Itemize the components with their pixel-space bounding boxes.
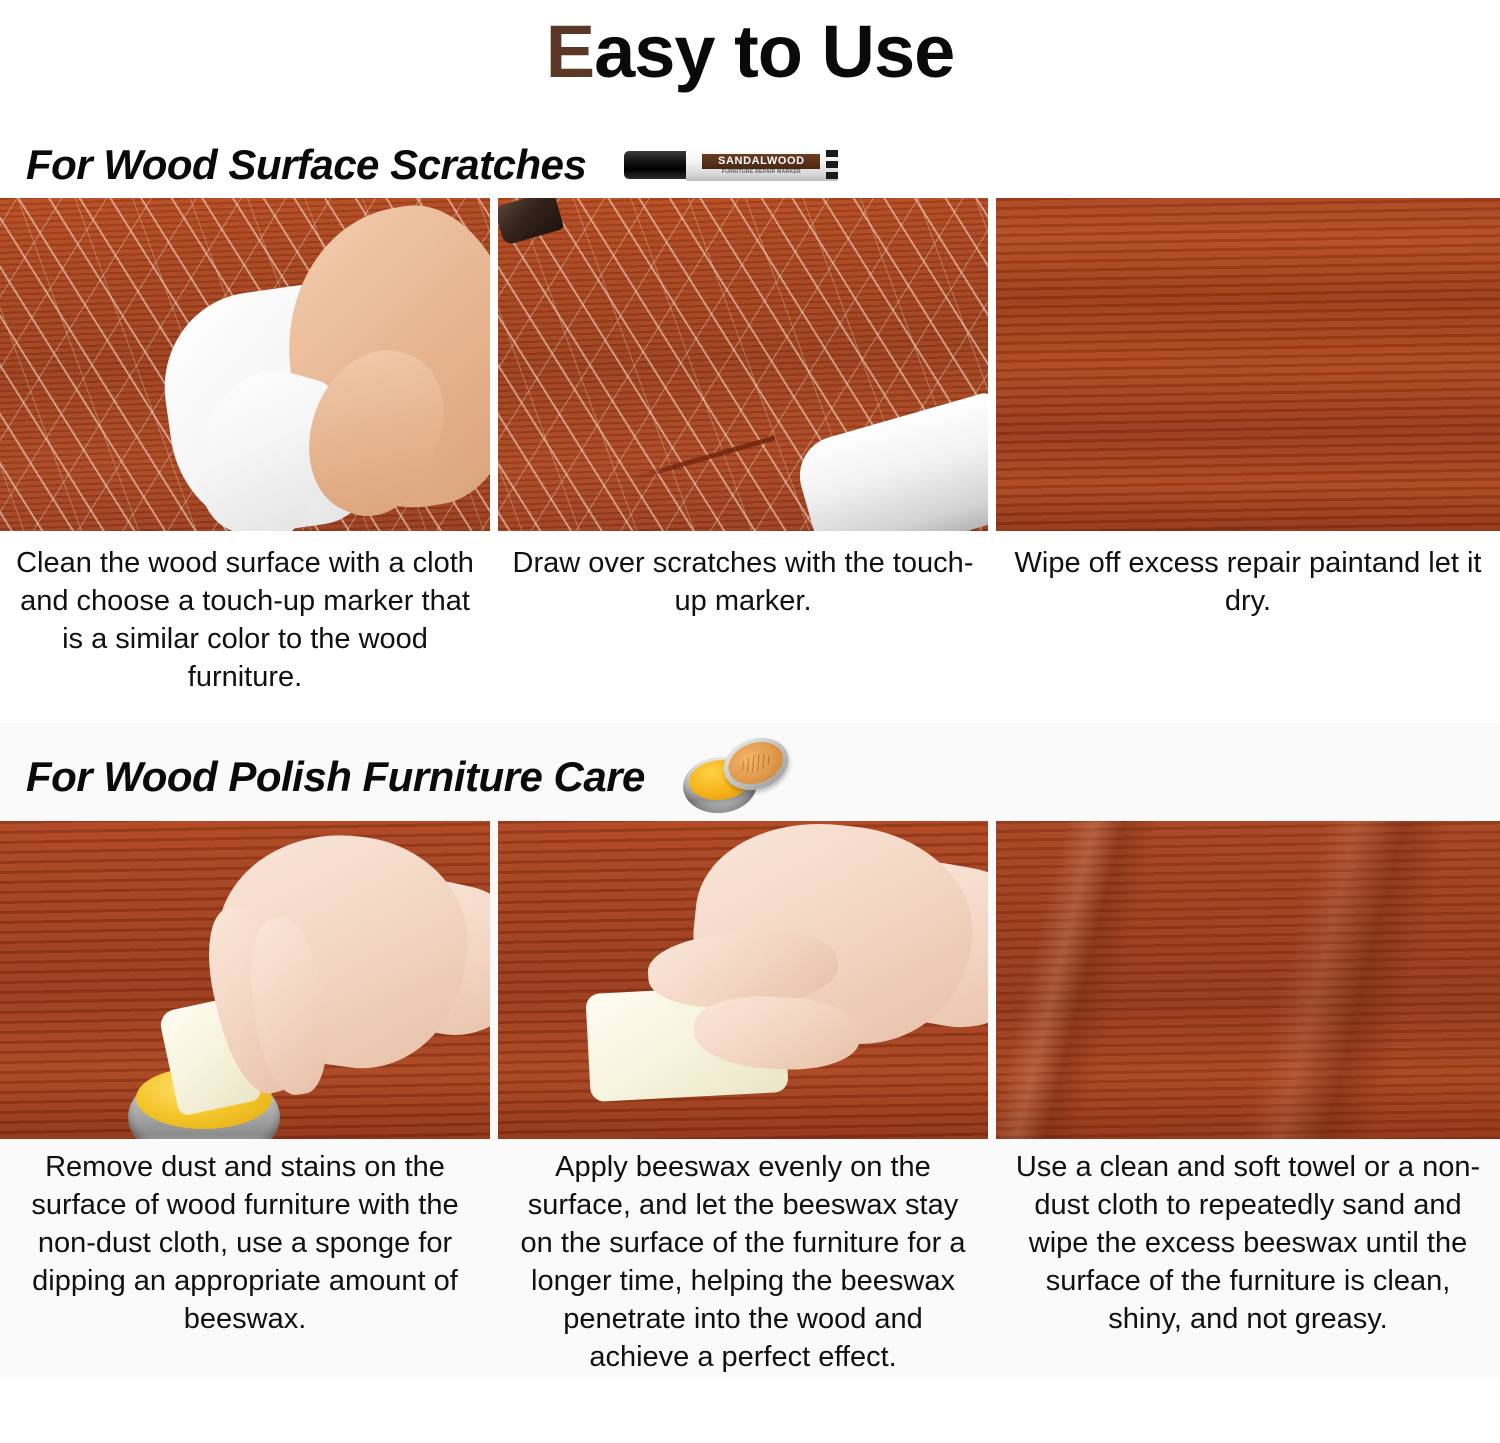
section-one-image-row bbox=[0, 198, 1500, 531]
step-caption-2: Draw over scratches with the touch-up ma… bbox=[498, 531, 988, 621]
wood-texture-polished bbox=[996, 821, 1500, 1139]
step-caption-5: Apply beeswax evenly on the surface, and… bbox=[498, 1139, 988, 1377]
section-wood-surface-scratches: For Wood Surface Scratches SANDALWOOD FU… bbox=[0, 132, 1500, 697]
section-one-header: For Wood Surface Scratches SANDALWOOD FU… bbox=[0, 132, 1500, 198]
section-two-image-row bbox=[0, 821, 1500, 1139]
wood-texture-repaired bbox=[996, 198, 1500, 531]
step-image-6 bbox=[996, 821, 1500, 1139]
tin-lid-label bbox=[722, 735, 788, 792]
step-image-1 bbox=[0, 198, 490, 531]
page-title: Easy to Use bbox=[0, 0, 1500, 98]
section-two-header: For Wood Polish Furniture Care bbox=[0, 725, 1500, 821]
step-image-3 bbox=[996, 198, 1500, 531]
section-one-caption-row: Clean the wood surface with a cloth and … bbox=[0, 531, 1500, 697]
step-image-4-photo bbox=[0, 821, 490, 1139]
step-image-3-photo bbox=[996, 198, 1500, 531]
marker-label: SANDALWOOD bbox=[702, 154, 820, 169]
step-caption-1: Clean the wood surface with a cloth and … bbox=[0, 531, 490, 697]
section-divider bbox=[0, 697, 1500, 723]
step-image-4 bbox=[0, 821, 490, 1139]
step-caption-6: Use a clean and soft towel or a non-dust… bbox=[996, 1139, 1500, 1339]
marker-pen-icon: SANDALWOOD FURNITURE REPAIR MARKER bbox=[624, 148, 846, 182]
section-one-title: For Wood Surface Scratches bbox=[26, 141, 586, 189]
marker-sublabel: FURNITURE REPAIR MARKER bbox=[702, 170, 820, 175]
step-caption-3: Wipe off excess repair paintand let it d… bbox=[996, 531, 1500, 621]
marker-label-text: SANDALWOOD bbox=[718, 156, 805, 167]
step-image-5 bbox=[498, 821, 988, 1139]
step-image-1-photo bbox=[0, 198, 490, 531]
page-title-accent-letter: E bbox=[546, 15, 594, 89]
step-caption-4: Remove dust and stains on the surface of… bbox=[0, 1139, 490, 1339]
step-image-6-photo bbox=[996, 821, 1500, 1139]
section-wood-polish-furniture-care: For Wood Polish Furniture Care bbox=[0, 723, 1500, 1377]
marker-rings bbox=[824, 149, 840, 181]
step-image-2-photo bbox=[498, 198, 988, 531]
step-image-5-photo bbox=[498, 821, 988, 1139]
page-title-rest: asy to Use bbox=[594, 15, 954, 89]
beeswax-tin-icon bbox=[679, 735, 791, 819]
section-two-caption-row: Remove dust and stains on the surface of… bbox=[0, 1139, 1500, 1377]
marker-cap bbox=[624, 151, 690, 179]
section-two-title: For Wood Polish Furniture Care bbox=[26, 753, 645, 801]
step-image-2 bbox=[498, 198, 988, 531]
